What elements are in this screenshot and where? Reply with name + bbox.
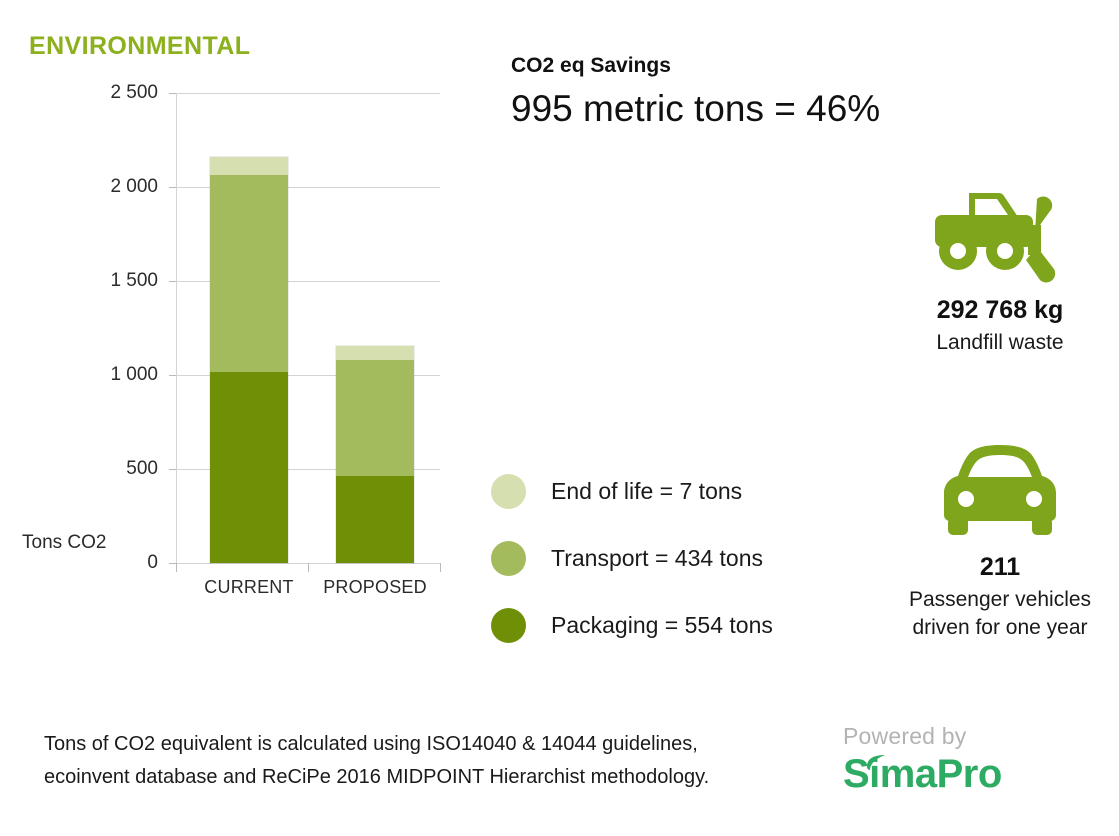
chart-y-tick-mark — [169, 563, 176, 564]
chart-bar-segment — [210, 157, 288, 175]
passenger-vehicles-value: 211 — [870, 553, 1119, 582]
equivalence-card-vehicles: 211 Passenger vehicles driven for one ye… — [870, 437, 1119, 642]
chart-y-tick-mark — [169, 375, 176, 376]
legend-dot-icon — [491, 608, 526, 643]
chart-plot-area: 05001 0001 5002 0002 500CURRENTPROPOSED — [176, 93, 440, 563]
methodology-footnote: Tons of CO2 equivalent is calculated usi… — [44, 728, 804, 794]
powered-by-label: Powered by — [843, 723, 1002, 750]
equivalence-card-landfill: 292 768 kg Landfill waste — [870, 180, 1119, 357]
chart-y-tick-label: 1 500 — [78, 270, 158, 292]
chart-x-tick-mark — [440, 563, 441, 572]
chart-x-tick-mark — [176, 563, 177, 572]
legend-item-label: Packaging = 554 tons — [551, 612, 773, 639]
co2-savings-label: CO2 eq Savings — [511, 54, 671, 78]
chart-x-tick-label: PROPOSED — [305, 577, 445, 598]
chart-y-tick-label: 2 000 — [78, 176, 158, 198]
legend-dot-icon — [491, 474, 526, 509]
chart-gridline — [176, 93, 440, 94]
chart-bar-segment — [336, 476, 414, 563]
co2-savings-value: 995 metric tons = 46% — [511, 88, 880, 130]
chart-y-tick-mark — [169, 469, 176, 470]
chart-y-tick-label: 500 — [78, 458, 158, 480]
simapro-logo: SimaPro — [843, 752, 1002, 797]
passenger-vehicles-caption: Passenger vehicles driven for one year — [870, 586, 1119, 642]
landfill-bulldozer-icon — [870, 180, 1119, 290]
passenger-vehicles-caption-line1: Passenger vehicles — [909, 588, 1091, 611]
chart-y-axis-label: Tons CO2 — [22, 532, 106, 554]
chart-legend: End of life = 7 tonsTransport = 434 tons… — [491, 458, 773, 659]
chart-x-tick-label: CURRENT — [179, 577, 319, 598]
chart-y-tick-label: 1 000 — [78, 364, 158, 386]
legend-item-label: Transport = 434 tons — [551, 545, 763, 572]
chart-bar — [336, 346, 414, 563]
powered-by-block: Powered by SimaPro — [843, 723, 1002, 797]
landfill-waste-value: 292 768 kg — [870, 296, 1119, 325]
footnote-line-2: ecoinvent database and ReCiPe 2016 MIDPO… — [44, 766, 709, 788]
chart-bar — [210, 157, 288, 563]
leaf-icon — [866, 755, 886, 771]
chart-y-tick-mark — [169, 93, 176, 94]
passenger-car-icon — [870, 437, 1119, 547]
chart-y-axis-line — [176, 93, 177, 563]
legend-item[interactable]: Packaging = 554 tons — [491, 592, 773, 659]
chart-bar-segment — [210, 372, 288, 563]
chart-y-tick-mark — [169, 187, 176, 188]
landfill-waste-caption: Landfill waste — [870, 329, 1119, 357]
page-title: ENVIRONMENTAL — [29, 32, 250, 61]
co2-stacked-bar-chart: Tons CO2 05001 0001 5002 0002 500CURRENT… — [0, 80, 470, 610]
legend-item[interactable]: End of life = 7 tons — [491, 458, 773, 525]
chart-bar-segment — [336, 346, 414, 360]
chart-y-tick-label: 2 500 — [78, 82, 158, 104]
passenger-vehicles-caption-line2: driven for one year — [912, 616, 1087, 639]
legend-item-label: End of life = 7 tons — [551, 478, 742, 505]
environmental-impact-slide: ENVIRONMENTAL Tons CO2 05001 0001 5002 0… — [0, 0, 1119, 836]
chart-y-tick-label: 0 — [78, 552, 158, 574]
chart-bar-segment — [210, 175, 288, 372]
legend-dot-icon — [491, 541, 526, 576]
footnote-line-1: Tons of CO2 equivalent is calculated usi… — [44, 733, 698, 755]
chart-bar-segment — [336, 360, 414, 476]
chart-x-tick-mark — [308, 563, 309, 572]
legend-item[interactable]: Transport = 434 tons — [491, 525, 773, 592]
chart-y-tick-mark — [169, 281, 176, 282]
